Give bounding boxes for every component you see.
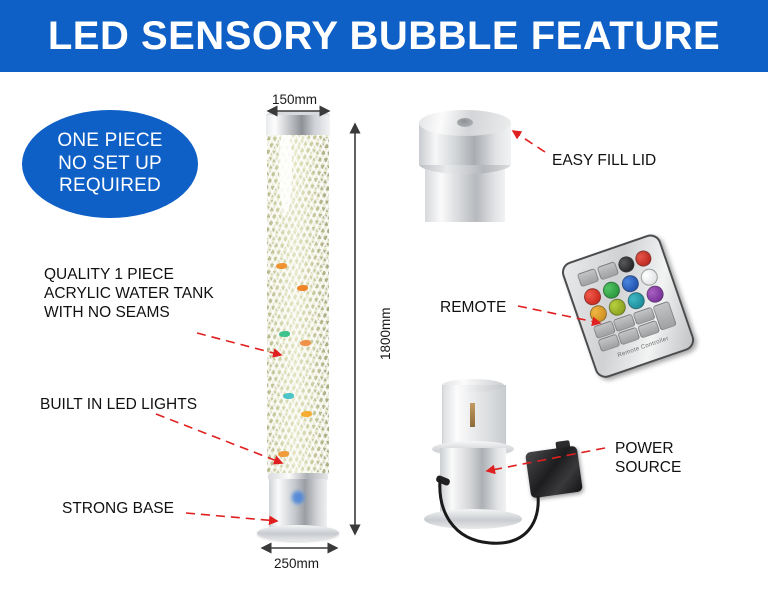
callout-acrylic-water-tank: QUALITY 1 PIECE ACRYLIC WATER TANK WITH … (44, 266, 214, 323)
dimension-label-width-top: 150mm (272, 92, 317, 107)
callout-strong-base: STRONG BASE (62, 500, 174, 519)
leader-line-power-source (487, 448, 605, 471)
callout-built-in-led-lights: BUILT IN LED LIGHTS (40, 396, 197, 415)
dimension-label-height: 1800mm (378, 307, 393, 360)
leader-line-easy-fill-lid (513, 131, 545, 152)
leader-line-strong-base (186, 513, 277, 521)
leader-line-acrylic-water-tank (197, 333, 281, 355)
callout-power-source: POWER SOURCE (615, 440, 681, 478)
leader-line-built-in-led-lights (156, 414, 282, 463)
callout-easy-fill-lid: EASY FILL LID (552, 152, 656, 171)
dimension-label-width-base: 250mm (274, 556, 319, 571)
callout-remote: REMOTE (440, 299, 506, 318)
leader-line-remote (518, 306, 600, 323)
power-cable (440, 480, 538, 543)
